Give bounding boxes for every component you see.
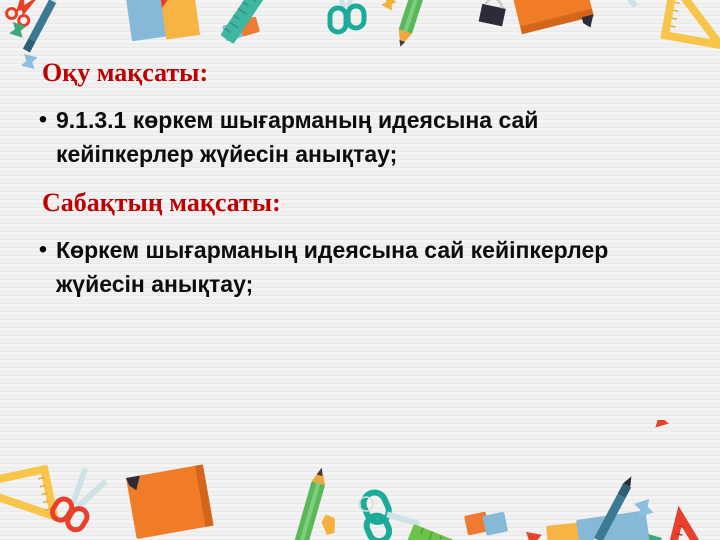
- blue-notebook-icon: [576, 510, 654, 540]
- blue-pushpin-icon: [634, 499, 654, 517]
- yellow-triangle-ruler-icon: [0, 469, 54, 533]
- lesson-objective-text: Көркем шығарманың идеясына сай кейіпкерл…: [56, 233, 656, 301]
- yellow-triangle-ruler-icon: [665, 0, 720, 45]
- learning-objective-bullet-list: • 9.1.3.1 көркем шығарманың идеясына сай…: [30, 103, 690, 171]
- yellow-page-icon: [160, 0, 200, 40]
- slide-canvas: Оқу мақсаты: • 9.1.3.1 көркем шығарманың…: [0, 0, 720, 540]
- list-item: • Көркем шығарманың идеясына сай кейіпке…: [30, 233, 690, 301]
- blue-pushpin-icon: [21, 54, 37, 69]
- orange-pushpin-icon: [381, 0, 396, 10]
- green-pencil-icon: [294, 466, 330, 540]
- green-pushpin-icon: [9, 22, 26, 38]
- bullet-point-icon: •: [30, 103, 56, 137]
- bullet-point-icon: •: [30, 233, 56, 267]
- faint-circle-mark: [359, 497, 373, 511]
- red-scissors-icon: [607, 0, 657, 10]
- blue-pen-icon: [588, 474, 635, 540]
- eraser-icon: [464, 508, 508, 540]
- red-scissors-icon: [5, 0, 43, 27]
- red-pushpin-icon: [652, 420, 669, 428]
- bottom-decoration-band: [0, 420, 720, 540]
- learning-objective-text: 9.1.3.1 көркем шығарманың идеясына сай к…: [56, 103, 656, 171]
- teal-ruler-icon: [220, 0, 269, 44]
- yellow-pushpin-icon: [320, 513, 338, 536]
- list-item: • 9.1.3.1 көркем шығарманың идеясына сай…: [30, 103, 690, 171]
- red-triangle-ruler-icon: [667, 516, 720, 540]
- learning-objective-heading: Оқу мақсаты:: [42, 58, 208, 88]
- blue-notebook-icon: [122, 0, 197, 41]
- teal-scissors-icon: [330, 0, 364, 32]
- lesson-objective-bullet-list: • Көркем шығарманың идеясына сай кейіпке…: [30, 233, 690, 301]
- red-pushpin-icon: [524, 532, 542, 540]
- red-scissors-icon: [49, 465, 109, 532]
- green-pushpin-icon: [644, 534, 662, 540]
- yellow-page-icon: [546, 521, 598, 540]
- green-pencil-icon: [394, 0, 430, 49]
- eraser-icon: [222, 16, 260, 41]
- teal-scissors-icon: [355, 480, 420, 540]
- binder-clip-icon: [479, 0, 508, 26]
- orange-book-icon: [126, 464, 214, 539]
- green-ruler-icon: [407, 524, 525, 540]
- orange-book-icon: [508, 0, 596, 44]
- lesson-objective-heading: Сабақтың мақсаты:: [42, 188, 281, 218]
- blue-pen-icon: [23, 0, 61, 52]
